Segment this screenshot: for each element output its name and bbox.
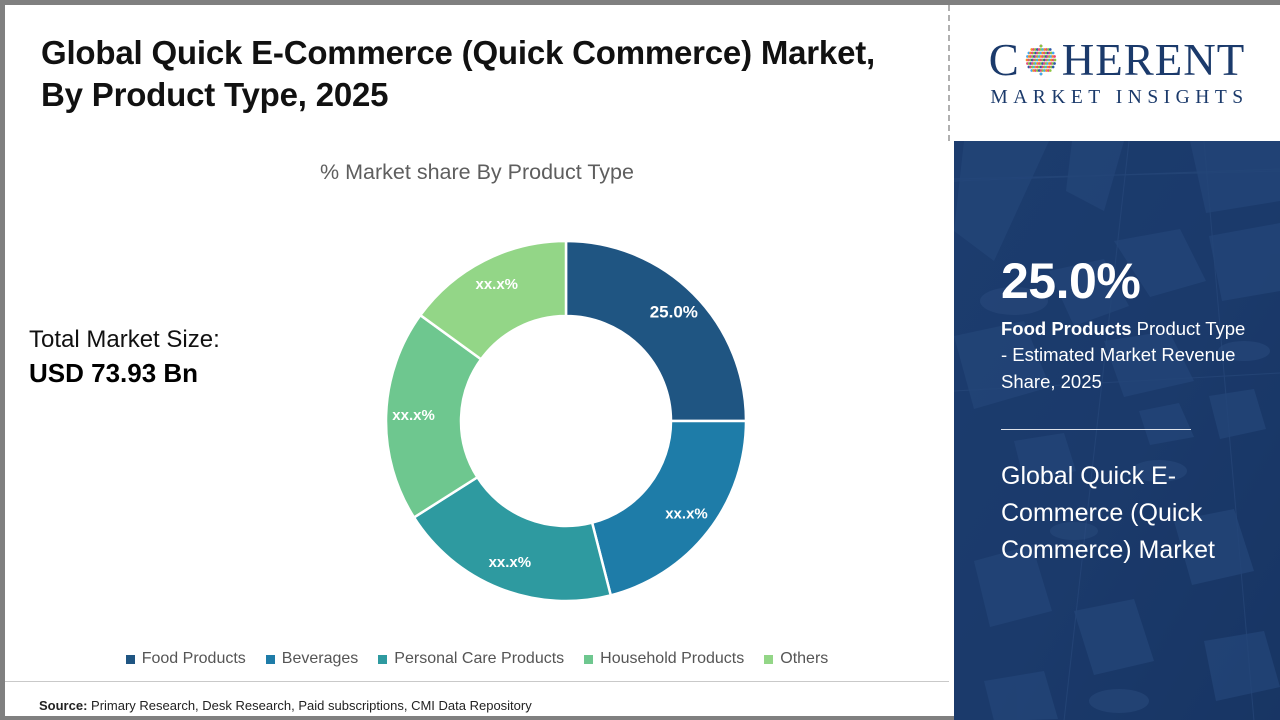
donut-slice-label: xx.x% (475, 276, 518, 293)
legend-swatch (764, 655, 773, 664)
legend-label: Food Products (142, 650, 246, 668)
legend-swatch (584, 655, 593, 664)
globe-dot (1049, 69, 1052, 72)
globe-dot (1053, 55, 1056, 58)
legend-swatch (378, 655, 387, 664)
legend-item[interactable]: Household Products (584, 650, 744, 668)
side-panel: C HERENT MARKET INSIGHTS (954, 5, 1280, 720)
source-line: Source: Primary Research, Desk Research,… (39, 698, 532, 713)
legend-swatch (126, 655, 135, 664)
legend-label: Household Products (600, 650, 744, 668)
globe-dot (1052, 52, 1055, 55)
donut-chart-svg: 25.0%xx.x%xx.x%xx.x%xx.x% (375, 230, 757, 612)
page-title: Global Quick E-Commerce (Quick Commerce)… (41, 32, 911, 116)
legend-swatch (266, 655, 275, 664)
legend-label: Beverages (282, 650, 359, 668)
donut-slices (386, 241, 746, 601)
globe-dot (1052, 66, 1055, 69)
donut-slice-label: xx.x% (489, 554, 532, 571)
donut-slice-label: 25.0% (650, 303, 698, 322)
globe-dot (1053, 59, 1056, 62)
side-panel-content: 25.0% Food Products Product Type - Estim… (954, 141, 1280, 720)
globe-dot (1039, 45, 1042, 48)
donut-slice-label: xx.x% (665, 505, 708, 522)
footer-divider (5, 681, 949, 682)
stat-segment-name: Food Products (1001, 318, 1132, 339)
chart-subtitle: % Market share By Product Type (5, 160, 949, 185)
side-panel-navy-block: 25.0% Food Products Product Type - Estim… (954, 141, 1280, 720)
globe-dot (1039, 73, 1042, 76)
logo-word-part-2: HERENT (1062, 38, 1245, 83)
logo-subtitle: MARKET INSIGHTS (985, 87, 1248, 109)
total-market-size: Total Market Size: USD 73.93 Bn (29, 325, 329, 391)
chart-legend: Food ProductsBeveragesPersonal Care Prod… (5, 650, 949, 668)
total-market-label: Total Market Size: (29, 325, 329, 355)
stat-value: 25.0% (1001, 256, 1252, 306)
legend-item[interactable]: Personal Care Products (378, 650, 564, 668)
source-text: Primary Research, Desk Research, Paid su… (87, 698, 531, 713)
globe-dot (1049, 48, 1052, 51)
globe-dot (1053, 62, 1056, 65)
globe-icon (1021, 40, 1061, 80)
brand-logo: C HERENT MARKET INSIGHTS (954, 5, 1280, 141)
chart-panel: Global Quick E-Commerce (Quick Commerce)… (5, 5, 949, 716)
infographic-page: Global Quick E-Commerce (Quick Commerce)… (0, 0, 1280, 720)
legend-label: Personal Care Products (394, 650, 564, 668)
report-name: Global Quick E-Commerce (Quick Commerce)… (1001, 458, 1252, 569)
legend-item[interactable]: Beverages (266, 650, 359, 668)
stat-divider (1001, 429, 1191, 430)
legend-label: Others (780, 650, 828, 668)
donut-slice-label: xx.x% (392, 407, 435, 424)
total-market-value: USD 73.93 Bn (29, 357, 329, 391)
legend-item[interactable]: Others (764, 650, 828, 668)
donut-slice (566, 241, 746, 421)
vertical-dashed-divider (948, 5, 950, 141)
logo-wordmark: C HERENT (989, 38, 1246, 83)
source-label: Source: (39, 698, 87, 713)
donut-chart: 25.0%xx.x%xx.x%xx.x%xx.x% (375, 230, 757, 612)
legend-item[interactable]: Food Products (126, 650, 246, 668)
stat-description: Food Products Product Type - Estimated M… (1001, 316, 1252, 395)
logo-word-part-1: C (989, 38, 1020, 83)
